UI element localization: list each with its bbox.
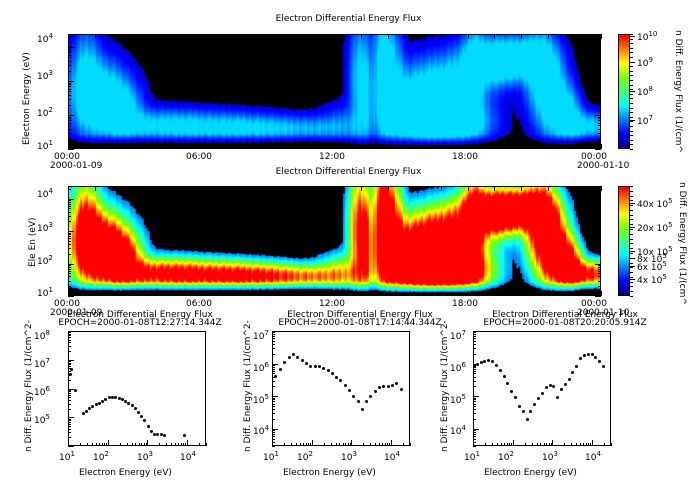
- panel-spectrum-3-xtick: [546, 443, 547, 446]
- panel-spectrum-2-xtick: [284, 443, 285, 446]
- panel-middle-colorbar-minortick: [630, 258, 633, 259]
- panel-top-yminortick: [68, 61, 71, 62]
- panel-middle-yminortick: [598, 254, 601, 255]
- panel-spectrum-3-plot-area: [473, 331, 611, 446]
- panel-spectrum-1-ytick: [68, 390, 71, 391]
- panel-middle-ymajortick: [68, 231, 74, 232]
- panel-top-ymajortick: [595, 47, 601, 48]
- panel-top-xmajortick: [548, 34, 549, 39]
- panel-spectrum-2-ytick: [272, 364, 278, 365]
- panel-spectrum-2-xtick: [403, 443, 404, 446]
- panel-top-yminortick: [598, 125, 601, 126]
- panel-spectrum-3-ytick: [473, 404, 476, 405]
- panel-middle-colorbar-tick: [630, 279, 635, 280]
- panel-middle-yminortick: [598, 204, 601, 205]
- panel-spectrum-3-xtick: [604, 443, 605, 446]
- panel-spectrum-2-datapoint: [374, 390, 377, 393]
- panel-spectrum-1-subtitle: EPOCH=2000-01-08T12:27:14.344Z: [30, 318, 250, 328]
- panel-spectrum-3-ytick: [473, 396, 479, 397]
- panel-middle-colorbar-minortick: [630, 229, 633, 230]
- panel-middle-ymajortick: [595, 231, 601, 232]
- panel-top-yminortick: [68, 123, 71, 124]
- panel-middle-yminortick: [598, 238, 601, 239]
- panel-spectrum-2-xtick-2: 102: [297, 450, 313, 463]
- panel-spectrum-1-ytick: [68, 351, 71, 352]
- panel-middle-yminortick: [68, 265, 71, 266]
- panel-middle-yminortick: [598, 281, 601, 282]
- panel-top-yminortick: [598, 118, 601, 119]
- panel-middle-colorbar-tick: [630, 203, 635, 204]
- panel-middle-yminortick: [598, 234, 601, 235]
- panel-middle-xmajortick: [95, 291, 96, 296]
- panel-spectrum-1-datapoint: [127, 402, 130, 405]
- panel-spectrum-2-ytick: [272, 373, 275, 374]
- panel-spectrum-3-ytick: [473, 336, 476, 337]
- panel-top-xtick-1: 06:00: [186, 152, 212, 162]
- panel-top-yminortick: [68, 118, 71, 119]
- panel-spectrum-3-ytick: [473, 381, 476, 382]
- panel-top-colorbar-ticklabel: 107: [637, 114, 653, 127]
- panel-middle-yminortick: [68, 273, 71, 274]
- panel-spectrum-2-ytick: [272, 442, 275, 443]
- panel-spectrum-2-xtick: [363, 443, 364, 446]
- panel-spectrum-1-ytick: [68, 371, 71, 372]
- panel-spectrum-2-xtick: [300, 443, 301, 446]
- panel-spectrum-3-xtick: [586, 443, 587, 446]
- panel-spectrum-3-ytick: [473, 348, 476, 349]
- panel-top-xmajortick: [388, 34, 389, 39]
- panel-top-yminortick: [598, 123, 601, 124]
- panel-top-colorbar-label: n Diff. Energy Flux (1/(cm^: [673, 30, 683, 153]
- panel-middle-ymajortick: [595, 296, 601, 297]
- panel-spectrum-3-xtick: [485, 443, 486, 446]
- panel-top-yminortick: [598, 65, 601, 66]
- panel-middle-xmajortick: [441, 186, 442, 191]
- panel-middle-yminortick: [598, 221, 601, 222]
- panel-middle-xmajortick: [228, 186, 229, 191]
- panel-spectrum-2-xtick-3: 103: [341, 450, 357, 463]
- panel-spectrum-2-xtick: [303, 443, 304, 446]
- panel-middle-colorbar-tick: [630, 227, 635, 228]
- panel-middle-yminortick: [598, 286, 601, 287]
- panel-top-xmajortick: [308, 34, 309, 39]
- panel-middle-yminortick: [598, 265, 601, 266]
- panel-middle-yminortick: [68, 248, 71, 249]
- panel-spectrum-1-ytick: [68, 409, 71, 410]
- panel-spectrum-2-xtick: [385, 443, 386, 446]
- panel-top-yminortick: [68, 95, 71, 96]
- panel-top-colorbar-minortick: [630, 75, 633, 76]
- panel-spectrum-3-datapoint: [510, 390, 513, 393]
- panel-spectrum-2-xtick: [387, 443, 388, 446]
- panel-spectrum-3-ytick: [473, 386, 476, 387]
- panel-middle-xmajortick: [281, 291, 282, 296]
- panel-spectrum-2-ytick: [272, 404, 275, 405]
- panel-top-yminortick: [598, 55, 601, 56]
- panel-top-yminortick: [598, 89, 601, 90]
- panel-spectrum-1-datapoint: [140, 415, 143, 418]
- panel-middle-ytick-2: 102: [37, 254, 53, 267]
- panel-top-colorbar-minortick: [630, 131, 633, 132]
- panel-top-yminortick: [598, 99, 601, 100]
- panel-middle-yminortick: [68, 212, 71, 213]
- panel-middle-colorbar-minortick: [630, 286, 633, 287]
- panel-spectrum-3-xtick: [501, 443, 502, 446]
- panel-middle-xmajortick: [548, 186, 549, 191]
- panel-spectrum-2-ytick: [272, 365, 275, 366]
- panel-middle-xmajortick: [175, 291, 176, 296]
- panel-middle-colorbar-minortick: [630, 267, 633, 268]
- panel-spectrum-1-xtick: [159, 443, 160, 446]
- panel-spectrum-3-ytick: [473, 430, 476, 431]
- panel-spectrum-3-ytick: [473, 354, 476, 355]
- panel-top-xmajortick: [281, 34, 282, 39]
- panel-middle-xmajortick: [148, 186, 149, 191]
- panel-middle-xtick-2: 12:00: [319, 299, 345, 309]
- panel-spectrum-1-ytick: [68, 426, 71, 427]
- panel-middle-yminortick: [598, 244, 601, 245]
- panel-top-colorbar-minortick: [630, 98, 633, 99]
- panel-spectrum-2-ytick: [272, 396, 278, 397]
- panel-top-ymajortick: [68, 47, 74, 48]
- panel-spectrum-1-ytick: [68, 375, 71, 376]
- panel-top-plot-area: [68, 34, 601, 149]
- panel-spectrum-1-xtick-2: 102: [93, 450, 109, 463]
- panel-spectrum-3-xtick: [513, 440, 514, 446]
- panel-top-yminortick: [598, 105, 601, 106]
- panel-spectrum-2-ytick: [272, 413, 275, 414]
- panel-spectrum-1-ytick: [68, 332, 71, 333]
- panel-spectrum-2-xtick: [370, 443, 371, 446]
- panel-top-ymajortick: [595, 149, 601, 150]
- panel-top-yminortick: [68, 91, 71, 92]
- panel-spectrum-1-xtick-4: 104: [180, 450, 196, 463]
- panel-top-xmajortick: [201, 34, 202, 39]
- panel-spectrum-1-ytick: [68, 420, 71, 421]
- panel-top-xmajortick: [121, 144, 122, 149]
- panel-spectrum-1-ytick: [68, 368, 71, 369]
- panel-top-yminortick: [68, 129, 71, 130]
- panel-spectrum-1-ytick: [68, 380, 71, 381]
- panel-spectrum-3-xtick: [497, 443, 498, 446]
- panel-spectrum-2-ytick: [272, 406, 275, 407]
- panel-top-title: Electron Differential Energy Flux: [0, 14, 697, 24]
- panel-top-xmajortick: [308, 144, 309, 149]
- panel-top-ylabel: Electron Energy (eV): [22, 52, 32, 145]
- panel-middle-yminortick: [68, 221, 71, 222]
- panel-middle-ymajortick: [68, 296, 74, 297]
- panel-top-xmajortick: [175, 34, 176, 39]
- panel-spectrum-1-xtick: [108, 440, 109, 446]
- panel-top-ytick-4: 104: [37, 32, 53, 45]
- panel-top-colorbar-minortick: [630, 80, 633, 81]
- panel-spectrum-3-ytick: [473, 373, 476, 374]
- panel-middle-colorbar-minortick: [630, 210, 633, 211]
- panel-spectrum-2-xtick: [312, 440, 313, 446]
- panel-top-colorbar-minortick: [630, 85, 633, 86]
- panel-top-yminortick: [598, 139, 601, 140]
- panel-spectrum-2-ytick: [272, 429, 278, 430]
- panel-top-xmajortick: [414, 34, 415, 39]
- panel-top-ymajortick: [68, 115, 74, 116]
- panel-spectrum-1-datapoint: [131, 404, 134, 407]
- panel-spectrum-2-datapoint: [400, 388, 403, 391]
- panel-spectrum-3-xtick: [592, 440, 593, 446]
- panel-spectrum-3-ytick: [473, 364, 479, 365]
- panel-spectrum-1-ytick: [68, 432, 71, 433]
- panel-spectrum-2-ytick: [272, 409, 275, 410]
- panel-spectrum-2-ytick: [272, 331, 278, 332]
- panel-top-xmajortick: [441, 144, 442, 149]
- panel-spectrum-2-xtick-1: 101: [263, 450, 279, 463]
- panel-top-colorbar-minortick: [630, 89, 633, 90]
- panel-top-ymajortick: [68, 81, 74, 82]
- panel-top-xmajortick: [548, 144, 549, 149]
- panel-spectrum-3-ytick-6: 106: [450, 361, 466, 374]
- panel-middle-yminortick: [598, 236, 601, 237]
- panel-middle-xmajortick: [201, 186, 202, 191]
- panel-top-xmajortick: [148, 144, 149, 149]
- panel-spectrum-1-xtick: [102, 443, 103, 446]
- panel-middle-colorbar-ticklabel: 4x 105: [637, 273, 667, 286]
- panel-middle-colorbar-minortick: [630, 291, 633, 292]
- panel-spectrum-3-xtick: [504, 443, 505, 446]
- panel-spectrum-1-xtick: [120, 443, 121, 446]
- panel-spectrum-3-ytick: [473, 401, 476, 402]
- panel-middle-yminortick: [68, 216, 71, 217]
- panel-spectrum-3-xtick: [576, 443, 577, 446]
- panel-spectrum-2-ytick: [272, 367, 275, 368]
- panel-spectrum-2-ytick: [272, 381, 275, 382]
- panel-spectrum-3-xtick: [507, 443, 508, 446]
- panel-spectrum-3-xtick: [511, 443, 512, 446]
- panel-top-yminortick: [598, 52, 601, 53]
- panel-spectrum-1-datapoint: [137, 411, 140, 414]
- panel-spectrum-2-datapoint: [279, 368, 282, 371]
- panel-spectrum-2-datapoint: [301, 359, 304, 362]
- panel-spectrum-3-ytick: [473, 344, 476, 345]
- panel-spectrum-1-xtick: [175, 443, 176, 446]
- panel-spectrum-3-xtick: [540, 443, 541, 446]
- panel-middle-colorbar-minortick: [630, 263, 633, 264]
- panel-middle-xmajortick: [521, 291, 522, 296]
- panel-spectrum-3-ytick: [473, 442, 476, 443]
- panel-middle-colorbar-minortick: [630, 243, 633, 244]
- panel-spectrum-2-ytick: [272, 369, 275, 370]
- panel-spectrum-3-subtitle: EPOCH=2000-01-08T20:20:05.914Z: [455, 318, 675, 328]
- panel-top-colorbar-minortick: [630, 52, 633, 53]
- panel-spectrum-3-datapoint: [591, 353, 594, 356]
- panel-top-colorbar-tick: [630, 36, 635, 37]
- panel-middle-yminortick: [68, 254, 71, 255]
- panel-spectrum-1-xtick-3: 103: [137, 450, 153, 463]
- panel-spectrum-2-xtick: [310, 443, 311, 446]
- panel-spectrum-2-xtick: [345, 443, 346, 446]
- panel-top-yminortick: [68, 52, 71, 53]
- panel-spectrum-2-xtick: [296, 443, 297, 446]
- panel-spectrum-3-ytick: [473, 369, 476, 370]
- panel-middle-yminortick: [68, 238, 71, 239]
- panel-top-yminortick: [68, 49, 71, 50]
- panel-spectrum-2-ytick: [272, 430, 275, 431]
- panel-top-yminortick: [68, 86, 71, 87]
- panel-spectrum-2-xtick: [379, 443, 380, 446]
- panel-spectrum-3-ylabel: n Diff. Energy Flux (1/(cm^2-: [440, 320, 450, 452]
- panel-spectrum-1-xtick: [132, 443, 133, 446]
- panel-top-xmajortick: [228, 34, 229, 39]
- panel-spectrum-1-xtick: [104, 443, 105, 446]
- panel-middle-yminortick: [68, 236, 71, 237]
- panel-middle-yminortick: [68, 208, 71, 209]
- panel-spectrum-1-datapoint: [134, 407, 137, 410]
- panel-middle-colorbar-minortick: [630, 196, 633, 197]
- panel-top-yminortick: [68, 139, 71, 140]
- panel-middle-xmajortick: [335, 186, 336, 191]
- panel-spectrum-3-xlabel: Electron Energy (eV): [484, 468, 577, 478]
- panel-spectrum-2-ytick: [272, 334, 275, 335]
- panel-top-ymajortick: [68, 149, 74, 150]
- panel-spectrum-3-xtick: [544, 443, 545, 446]
- panel-spectrum-1-xtick: [96, 443, 97, 446]
- panel-spectrum-1-ytick-8: 108: [34, 329, 50, 342]
- panel-spectrum-1-ytick: [68, 335, 71, 336]
- panel-spectrum-1-ytick: [68, 346, 71, 347]
- panel-top-yminortick: [68, 133, 71, 134]
- panel-top-colorbar-minortick: [630, 135, 633, 136]
- panel-spectrum-2-xtick: [348, 443, 349, 446]
- panel-middle-xmajortick: [361, 291, 362, 296]
- panel-spectrum-3-ytick-5: 105: [450, 393, 466, 406]
- panel-middle-yminortick: [598, 267, 601, 268]
- panel-spectrum-3-xtick: [525, 443, 526, 446]
- panel-top-colorbar-minortick: [630, 140, 633, 141]
- panel-middle-yminortick: [598, 202, 601, 203]
- panel-spectrum-1-xtick: [127, 443, 128, 446]
- panel-middle-xmajortick: [175, 186, 176, 191]
- panel-middle-colorbar-minortick: [630, 215, 633, 216]
- panel-middle-yminortick: [68, 271, 71, 272]
- panel-middle-yminortick: [68, 206, 71, 207]
- panel-middle-yminortick: [598, 200, 601, 201]
- panel-spectrum-2-ytick: [272, 338, 275, 339]
- panel-middle-xmajortick: [255, 291, 256, 296]
- panel-spectrum-1-xtick: [139, 443, 140, 446]
- panel-spectrum-2-xtick: [382, 443, 383, 446]
- panel-middle-xmajortick: [548, 291, 549, 296]
- panel-top-xmajortick: [521, 34, 522, 39]
- panel-middle-yminortick: [68, 204, 71, 205]
- panel-middle-xmajortick: [574, 291, 575, 296]
- panel-middle-colorbar-minortick: [630, 272, 633, 273]
- panel-spectrum-2-datapoint: [344, 384, 347, 387]
- panel-top-colorbar-minortick: [630, 144, 633, 145]
- panel-spectrum-2-xtick-4: 104: [384, 450, 400, 463]
- panel-middle-yminortick: [68, 202, 71, 203]
- panel-middle-yminortick: [598, 206, 601, 207]
- panel-top-colorbar-minortick: [630, 94, 633, 95]
- panel-spectrum-1-xtick: [87, 443, 88, 446]
- panel-spectrum-3-ytick: [473, 413, 476, 414]
- panel-spectrum-1-ytick: [68, 393, 71, 394]
- panel-spectrum-2-ytick-5: 105: [253, 393, 269, 406]
- panel-top-xmajortick: [148, 34, 149, 39]
- panel-spectrum-2-xtick: [331, 443, 332, 446]
- panel-spectrum-2-ytick: [272, 354, 275, 355]
- panel-spectrum-1-xtick: [171, 443, 172, 446]
- panel-spectrum-3-ytick-4: 104: [450, 424, 466, 437]
- panel-spectrum-1-xtick: [144, 443, 145, 446]
- panel-top-xmajortick: [255, 144, 256, 149]
- panel-middle-yminortick: [598, 248, 601, 249]
- panel-middle-xmajortick: [121, 291, 122, 296]
- panel-top-xmajortick: [281, 144, 282, 149]
- panel-spectrum-1-ytick-5: 105: [34, 413, 50, 426]
- panel-middle-xmajortick: [121, 186, 122, 191]
- panel-spectrum-3-ytick: [473, 398, 476, 399]
- panel-middle-yminortick: [68, 233, 71, 234]
- panel-middle-xmajortick: [308, 291, 309, 296]
- panel-middle-ytick-4: 104: [37, 187, 53, 200]
- panel-spectrum-3-xtick: [492, 443, 493, 446]
- panel-spectrum-1-xtick: [106, 443, 107, 446]
- panel-middle-yminortick: [68, 241, 71, 242]
- panel-top-colorbar-ticklabel: 109: [637, 56, 653, 69]
- panel-middle-yminortick: [598, 276, 601, 277]
- panel-top-yminortick: [598, 91, 601, 92]
- panel-spectrum-2-xtick: [339, 443, 340, 446]
- panel-spectrum-2-datapoint: [357, 400, 360, 403]
- panel-spectrum-2-datapoint: [314, 365, 317, 368]
- panel-middle-xmajortick: [255, 186, 256, 191]
- panel-top-yminortick: [598, 61, 601, 62]
- panel-top-colorbar-minortick: [630, 117, 633, 118]
- panel-middle-xmajortick: [335, 291, 336, 296]
- panel-top-yminortick: [68, 117, 71, 118]
- panel-spectrum-1-xlabel: Electron Energy (eV): [79, 468, 172, 478]
- panel-middle-xmajortick: [148, 291, 149, 296]
- panel-spectrum-2-xtick: [391, 440, 392, 446]
- panel-middle-yminortick: [598, 273, 601, 274]
- panel-top-colorbar-minortick: [630, 126, 633, 127]
- panel-top-xmajortick: [574, 34, 575, 39]
- panel-spectrum-2-xtick: [336, 443, 337, 446]
- panel-middle-colorbar-minortick: [630, 277, 633, 278]
- panel-spectrum-3-ytick: [473, 377, 476, 378]
- panel-top-colorbar-ticklabel: 1010: [637, 30, 657, 43]
- panel-middle-colorbar-minortick: [630, 219, 633, 220]
- panel-spectrum-3-ytick: [473, 371, 476, 372]
- panel-spectrum-3-xtick: [611, 443, 612, 446]
- panel-spectrum-1-ytick: [68, 331, 74, 332]
- panel-top-yminortick: [598, 71, 601, 72]
- panel-middle-xmajortick: [281, 186, 282, 191]
- panel-top-yminortick: [598, 51, 601, 52]
- panel-top-colorbar-minortick: [630, 71, 633, 72]
- panel-spectrum-1-xtick: [178, 443, 179, 446]
- panel-spectrum-3-datapoint: [587, 353, 590, 356]
- panel-top-yminortick: [68, 89, 71, 90]
- panel-top-colorbar-minortick: [630, 108, 633, 109]
- panel-spectrum-2-xtick: [410, 443, 411, 446]
- panel-middle-yminortick: [598, 241, 601, 242]
- panel-spectrum-1-ytick: [68, 366, 71, 367]
- panel-spectrum-1-plot-area: [68, 331, 206, 446]
- panel-spectrum-2-ytick: [272, 399, 275, 400]
- panel-spectrum-1-ytick-7: 107: [34, 357, 50, 370]
- panel-top-xtick-3: 18:00: [452, 152, 478, 162]
- panel-spectrum-1-xtick: [141, 443, 142, 446]
- panel-spectrum-1-datapoint: [147, 425, 150, 428]
